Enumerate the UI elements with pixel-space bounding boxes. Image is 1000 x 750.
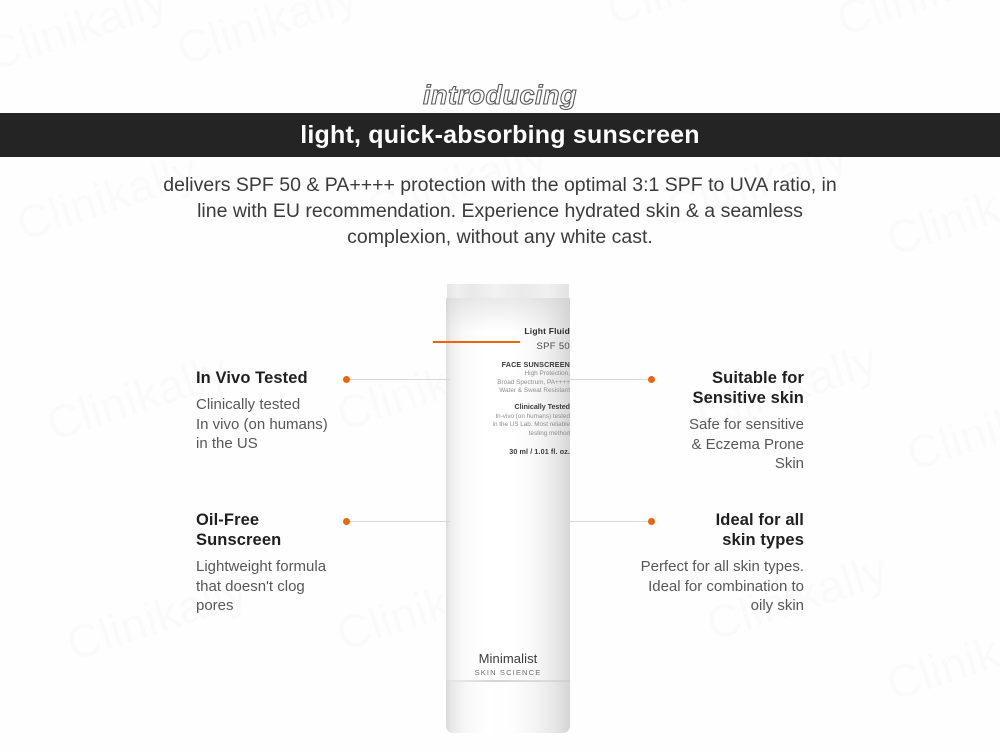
feature-description: Safe for sensitive& Eczema ProneSkin <box>574 415 804 474</box>
feature-description: Perfect for all skin types.Ideal for com… <box>574 557 804 616</box>
watermark-text: Clinikally <box>170 0 364 76</box>
tube-label-face-sunscreen: FACE SUNSCREEN <box>446 360 582 369</box>
feature-title: Oil-FreeSunscreen <box>196 510 426 550</box>
brand-tagline: SKIN SCIENCE <box>446 668 570 677</box>
tube-brand-lockup: Minimalist SKIN SCIENCE <box>446 651 570 677</box>
brand-name: Minimalist <box>446 651 570 666</box>
tube-label-face-sunscreen-sub: High Protection,Broad Spectrum, PA++++Wa… <box>446 370 582 396</box>
feature-oil-free-sunscreen: Oil-FreeSunscreen Lightweight formulatha… <box>196 510 426 616</box>
feature-description: Clinically testedIn vivo (on humans)in t… <box>196 395 426 454</box>
tube-label-light-fluid: Light Fluid <box>446 326 582 336</box>
tube-cap <box>446 682 570 733</box>
tube-label-clinically-tested: Clinically Tested <box>446 403 582 411</box>
product-description: delivers SPF 50 & PA++++ protection with… <box>160 172 840 250</box>
watermark-text: Clinikally <box>0 0 174 81</box>
infographic-canvas: Clinikally Clinikally Clinikally Clinika… <box>0 0 1000 750</box>
feature-description: Lightweight formulathat doesn't clogpore… <box>196 557 426 616</box>
connector-dot-oil-free <box>343 518 350 525</box>
feature-title: In Vivo Tested <box>196 368 426 388</box>
tube-body <box>446 298 570 689</box>
connector-dot-skin-types <box>648 518 655 525</box>
tube-label-volume: 30 ml / 1.01 fl. oz. <box>446 447 582 456</box>
connector-dot-in-vivo <box>343 376 350 383</box>
headline-text: light, quick-absorbing sunscreen <box>300 121 700 150</box>
feature-in-vivo-tested: In Vivo Tested Clinically testedIn vivo … <box>196 368 426 454</box>
introducing-eyebrow: introducing <box>0 80 1000 111</box>
feature-title: Ideal for allskin types <box>574 510 804 550</box>
watermark-text: Clinikally <box>880 602 1000 711</box>
tube-label-clinically-tested-sub: In-vivo (on humans) testedin the US Lab.… <box>446 413 582 438</box>
feature-suitable-for-sensitive-skin: Suitable forSensitive skin Safe for sens… <box>574 368 804 474</box>
connector-dot-sensitive <box>648 376 655 383</box>
watermark-text: Clinikally <box>830 0 1000 46</box>
watermark-text: Clinikally <box>900 372 1000 481</box>
watermark-text: Clinikally <box>600 0 794 36</box>
feature-ideal-for-all-skin-types: Ideal for allskin types Perfect for all … <box>574 510 804 616</box>
watermark-text: Clinikally <box>880 157 1000 266</box>
tube-label-spf: SPF 50 <box>446 341 582 352</box>
headline-banner: light, quick-absorbing sunscreen <box>0 113 1000 157</box>
feature-title: Suitable forSensitive skin <box>574 368 804 408</box>
product-tube-image: Light Fluid SPF 50 FACE SUNSCREEN High P… <box>446 284 570 733</box>
